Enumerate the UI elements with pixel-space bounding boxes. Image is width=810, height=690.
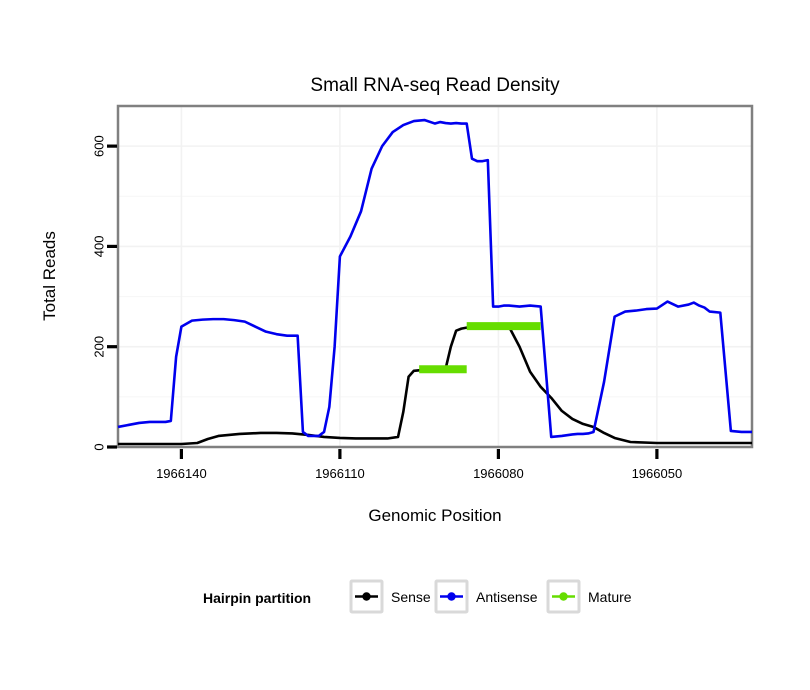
read-density-chart: Small RNA-seq Read Density 0200400600 19… — [0, 0, 810, 690]
x-tick-label: 1966140 — [156, 466, 207, 481]
legend-entry-label: Antisense — [476, 589, 538, 605]
x-tick-label: 1966050 — [632, 466, 683, 481]
y-tick-label: 200 — [92, 336, 107, 358]
legend-key-dot — [362, 592, 370, 600]
legend-key-dot — [559, 592, 567, 600]
y-axis-title: Total Reads — [40, 231, 59, 321]
legend-title: Hairpin partition — [203, 590, 311, 606]
plot-panel — [118, 106, 752, 447]
legend-entry-label: Sense — [391, 589, 431, 605]
x-tick-label: 1966080 — [473, 466, 524, 481]
x-tick-label: 1966110 — [315, 466, 365, 481]
y-tick-label: 600 — [92, 135, 107, 157]
chart-title: Small RNA-seq Read Density — [310, 75, 560, 96]
y-tick-label: 0 — [92, 443, 107, 450]
chart-container: Small RNA-seq Read Density 0200400600 19… — [0, 0, 810, 690]
legend-key-dot — [447, 592, 455, 600]
y-tick-label: 400 — [92, 236, 107, 258]
legend-entry-label: Mature — [588, 589, 632, 605]
x-axis-title: Genomic Position — [368, 506, 501, 525]
